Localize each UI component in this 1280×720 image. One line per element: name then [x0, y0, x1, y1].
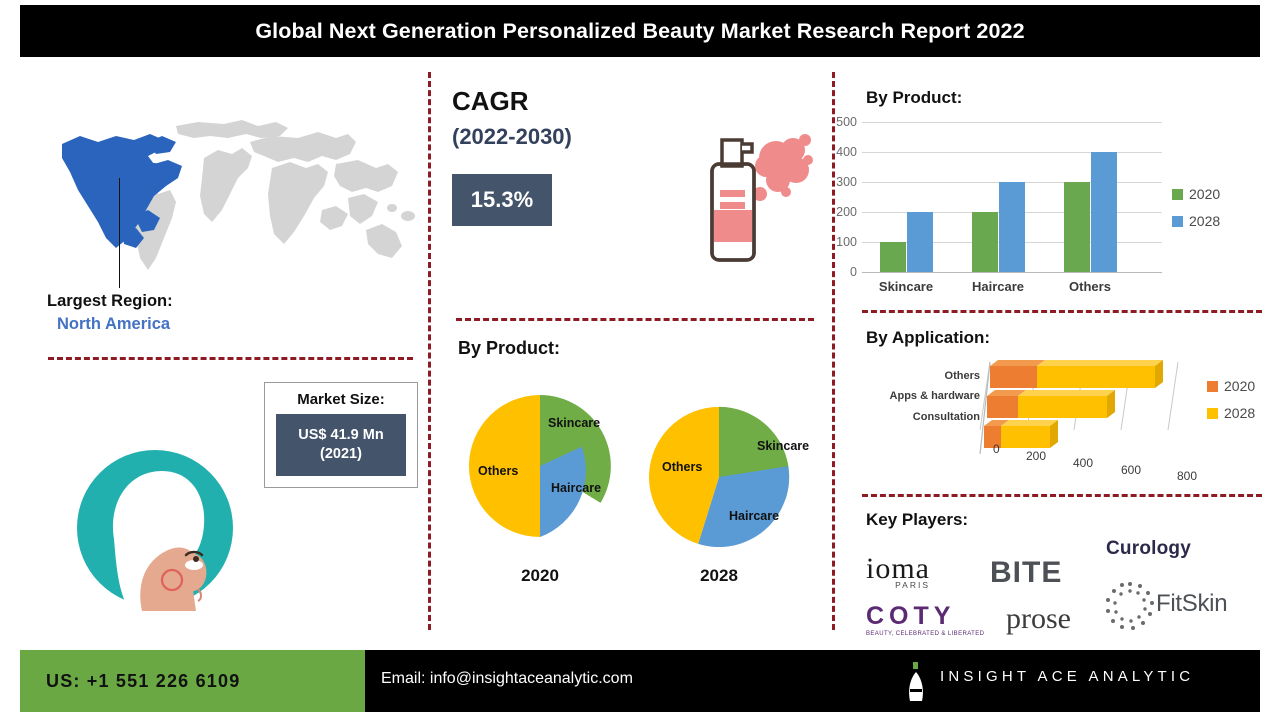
gridline-500 — [862, 122, 1162, 123]
largest-region-value: North America — [57, 315, 170, 334]
logo-coty-sub: BEAUTY, CELEBRATED & LIBERATED — [866, 631, 984, 637]
largest-region-label: Largest Region: — [47, 292, 173, 311]
market-size-card: Market Size: US$ 41.9 Mn (2021) — [264, 382, 418, 488]
page-title-bar: Global Next Generation Personalized Beau… — [20, 5, 1260, 57]
bar-haircare-2020 — [972, 212, 998, 272]
app-cat-consultation: Consultation — [880, 411, 980, 423]
footer-phone: US: +1 551 226 6109 — [46, 671, 240, 692]
pie-2028-label-haircare: Haircare — [729, 509, 779, 523]
by-product-bar-chart: 500 400 300 200 100 0 Skincare Haircare … — [862, 122, 1162, 272]
app-legend-item-2020: 2020 — [1207, 378, 1255, 394]
key-players-label: Key Players: — [866, 510, 968, 530]
by-application-legend: 2020 2028 — [1207, 378, 1255, 432]
logo-bite: BITE — [990, 556, 1062, 590]
divider-right-horizontal-1 — [862, 310, 1262, 313]
app-bar-apps-hardware — [987, 390, 1115, 418]
by-product-legend: 2020 2028 — [1172, 186, 1220, 240]
woman-profile-icon — [70, 443, 240, 613]
page-title: Global Next Generation Personalized Beau… — [255, 19, 1024, 44]
cagr-period: (2022-2030) — [452, 124, 572, 150]
logo-coty-text: COTY — [866, 602, 984, 631]
middle-by-product-label: By Product: — [458, 338, 560, 359]
market-size-value: US$ 41.9 Mn — [298, 426, 383, 445]
app-xtick-600: 600 — [1121, 463, 1141, 477]
logo-fitskin: FitSkin — [1156, 590, 1227, 618]
ytick-0: 0 — [850, 265, 857, 279]
legend-item-2028: 2028 — [1172, 213, 1220, 229]
logo-ioma: ioma PARIS — [866, 552, 930, 590]
xtick-skincare: Skincare — [879, 279, 933, 294]
app-xtick-0: 0 — [993, 442, 1000, 456]
pie-chart-2028 — [646, 404, 792, 550]
legend-swatch-2028 — [1172, 216, 1183, 227]
divider-middle-right — [832, 72, 835, 630]
cagr-value-box: 15.3% — [452, 174, 552, 226]
footer-email: Email: info@insightaceanalytic.com — [381, 670, 633, 688]
market-size-year: (2021) — [320, 445, 362, 464]
ytick-100: 100 — [836, 235, 857, 249]
pie-2020-label-others: Others — [478, 464, 518, 478]
app-xtick-400: 400 — [1073, 456, 1093, 470]
footer-brand: INSIGHT ACE ANALYTIC — [940, 668, 1194, 685]
divider-left-horizontal — [48, 357, 413, 360]
app-xtick-800: 800 — [1177, 469, 1197, 483]
app-legend-swatch-2020 — [1207, 381, 1218, 392]
logo-coty: COTY BEAUTY, CELEBRATED & LIBERATED — [866, 602, 984, 637]
footer-phone-block: US: +1 551 226 6109 — [20, 650, 365, 712]
xtick-others: Others — [1069, 279, 1111, 294]
spray-bottle-icon — [700, 122, 820, 267]
map-leader-line — [119, 178, 120, 288]
divider-right-horizontal-2 — [862, 494, 1262, 497]
app-legend-label-2020: 2020 — [1224, 378, 1255, 394]
key-players-logos: ioma PARIS BITE Curology COTY BEAUTY, CE… — [866, 530, 1266, 630]
app-legend-swatch-2028 — [1207, 408, 1218, 419]
app-legend-label-2028: 2028 — [1224, 405, 1255, 421]
pie-2020-year: 2020 — [466, 566, 614, 586]
ytick-500: 500 — [836, 115, 857, 129]
app-cat-others: Others — [880, 370, 980, 382]
pie-2028-year: 2028 — [646, 566, 792, 586]
bar-others-2020 — [1064, 182, 1090, 272]
app-xtick-200: 200 — [1026, 449, 1046, 463]
divider-left-middle — [428, 72, 431, 630]
logo-prose: prose — [1006, 602, 1071, 636]
logo-curology: Curology — [1106, 538, 1191, 560]
divider-middle-horizontal — [456, 318, 814, 321]
market-size-label: Market Size: — [265, 391, 417, 408]
insight-ace-analytic-logo-icon — [905, 662, 927, 702]
logo-fitskin-mark — [1104, 580, 1156, 632]
pie-2020-label-skincare: Skincare — [548, 416, 600, 430]
app-cat-apps-hardware: Apps & hardware — [860, 390, 980, 402]
bar-skincare-2028 — [907, 212, 933, 272]
app-legend-item-2028: 2028 — [1207, 405, 1255, 421]
pie-2028-label-others: Others — [662, 460, 702, 474]
legend-label-2028: 2028 — [1189, 213, 1220, 229]
pie-2020-label-haircare: Haircare — [551, 481, 601, 495]
footer-main-block: Email: info@insightaceanalytic.com INSIG… — [365, 650, 1260, 712]
cagr-label: CAGR — [452, 86, 529, 117]
right-by-product-label: By Product: — [866, 88, 962, 108]
bar-skincare-2020 — [880, 242, 906, 272]
bar-haircare-2028 — [999, 182, 1025, 272]
gridline-400 — [862, 152, 1162, 153]
legend-label-2020: 2020 — [1189, 186, 1220, 202]
app-bar-others — [990, 360, 1163, 388]
ytick-200: 200 — [836, 205, 857, 219]
legend-swatch-2020 — [1172, 189, 1183, 200]
by-application-label: By Application: — [866, 328, 990, 348]
world-map — [36, 98, 421, 288]
xtick-haircare: Haircare — [972, 279, 1024, 294]
cagr-value: 15.3% — [471, 187, 533, 213]
bar-others-2028 — [1091, 152, 1117, 272]
market-size-value-block: US$ 41.9 Mn (2021) — [276, 414, 406, 476]
infographic-page: Global Next Generation Personalized Beau… — [0, 0, 1280, 720]
ytick-400: 400 — [836, 145, 857, 159]
pie-2028-label-skincare: Skincare — [757, 439, 809, 453]
legend-item-2020: 2020 — [1172, 186, 1220, 202]
ytick-300: 300 — [836, 175, 857, 189]
gridline-0 — [862, 272, 1162, 273]
